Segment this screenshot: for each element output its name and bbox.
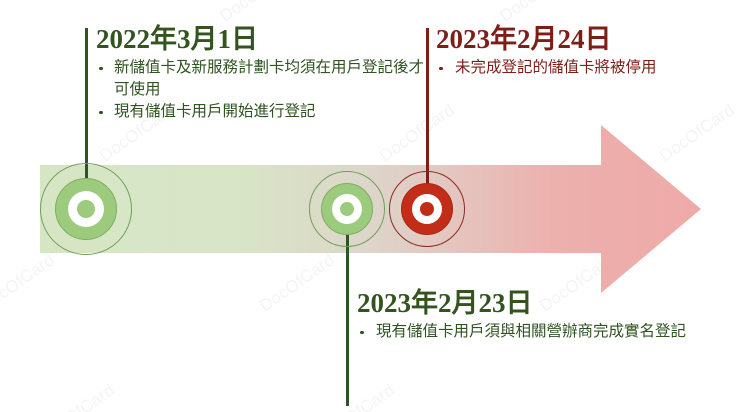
bullet-dot-icon — [360, 331, 364, 335]
bullet-dot-icon — [99, 67, 103, 71]
milestone-block-2023-02-24: 2023年2月24日 未完成登記的儲值卡將被停用 — [436, 24, 676, 79]
marker-center-dot-icon — [420, 202, 434, 216]
milestone-bullet-text: 現有儲值卡用戶開始進行登記 — [114, 103, 316, 120]
marker-center-dot-icon — [340, 202, 354, 216]
milestone-bullet-item: 現有儲值卡用戶須與相關營辦商完成實名登記 — [357, 321, 697, 343]
milestone-bullet-text: 新儲值卡及新服務計劃卡均須在用戶登記後才可使用 — [114, 59, 424, 98]
bullet-dot-icon — [99, 111, 103, 115]
milestone-bullet-text: 未完成登記的儲值卡將被停用 — [455, 59, 657, 76]
milestone-date: 2023年2月23日 — [357, 288, 697, 318]
milestone-bullet-text: 現有儲值卡用戶須與相關營辦商完成實名登記 — [376, 323, 686, 340]
milestone-date: 2023年2月24日 — [436, 24, 676, 54]
timeline-marker-2022-03-01[interactable] — [40, 163, 132, 255]
timeline-marker-2023-02-23[interactable] — [309, 171, 385, 247]
marker-center-dot-icon — [77, 200, 95, 218]
timeline-marker-2023-02-24[interactable] — [389, 171, 465, 247]
milestone-bullet-list: 新儲值卡及新服務計劃卡均須在用戶登記後才可使用 現有儲值卡用戶開始進行登記 — [96, 57, 426, 123]
milestone-bullet-item: 新儲值卡及新服務計劃卡均須在用戶登記後才可使用 — [96, 57, 426, 101]
timeline-infographic: DocOfCard DocOfCard DocOfCard DocOfCard … — [0, 0, 752, 412]
milestone-block-2022-03-01: 2022年3月1日 新儲值卡及新服務計劃卡均須在用戶登記後才可使用 現有儲值卡用… — [96, 24, 426, 123]
milestone-bullet-list: 現有儲值卡用戶須與相關營辦商完成實名登記 — [357, 321, 697, 343]
milestone-bullet-item: 現有儲值卡用戶開始進行登記 — [96, 101, 426, 123]
milestone-bullet-item: 未完成登記的儲值卡將被停用 — [436, 57, 676, 79]
bullet-dot-icon — [439, 67, 443, 71]
milestone-date: 2022年3月1日 — [96, 24, 426, 54]
milestone-block-2023-02-23: 2023年2月23日 現有儲值卡用戶須與相關營辦商完成實名登記 — [357, 288, 697, 343]
milestone-bullet-list: 未完成登記的儲值卡將被停用 — [436, 57, 676, 79]
